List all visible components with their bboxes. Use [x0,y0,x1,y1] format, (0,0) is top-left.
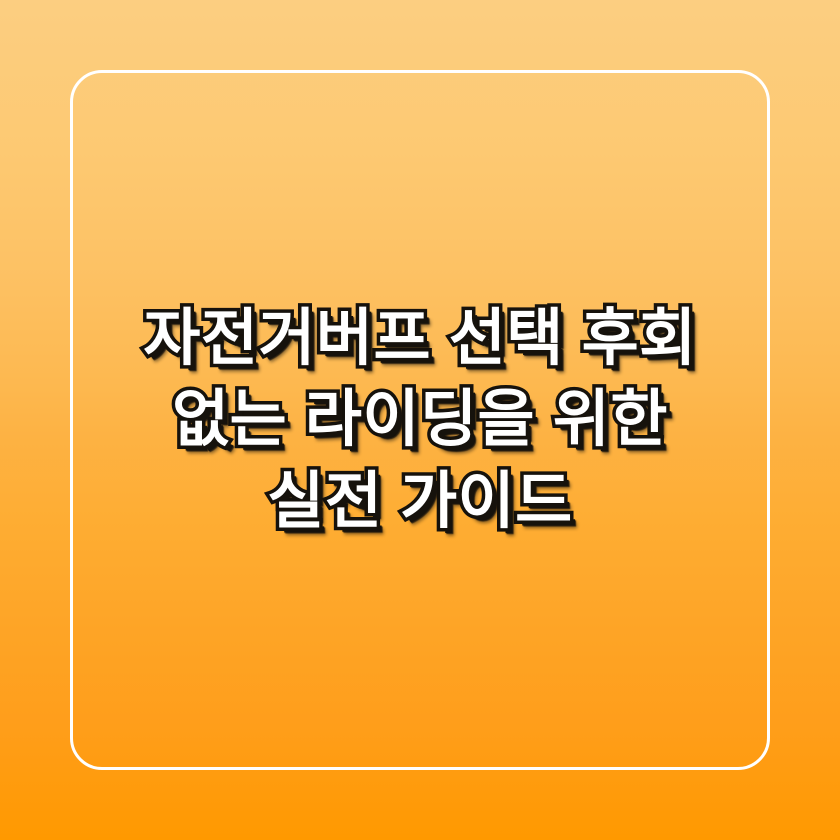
thumbnail-card: 자전거버프 선택 후회 없는 라이딩을 위한 실전 가이드 [0,0,840,840]
title-line-2: 없는 라이딩을 위한 [96,380,744,459]
title-block: 자전거버프 선택 후회 없는 라이딩을 위한 실전 가이드 [0,0,840,840]
title-line-3: 실전 가이드 [96,462,744,541]
title-line-1: 자전거버프 선택 후회 [96,299,744,378]
